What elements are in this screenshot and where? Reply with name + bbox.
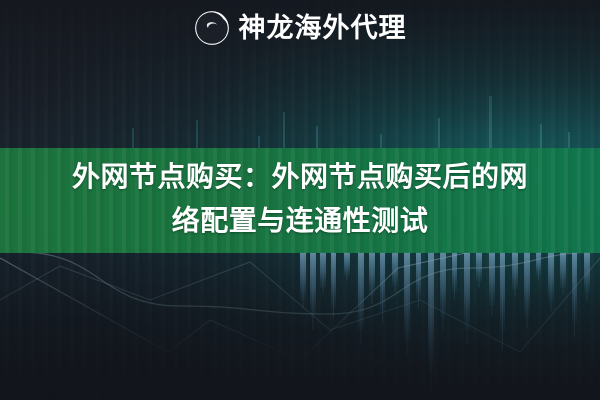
watermark-brand: 神龙海外代理 [239,10,407,46]
dragon-swirl-logo-icon [194,10,230,46]
promo-banner-image: 外网节点购买：外网节点购买后的网 络配置与连通性测试 神龙海外代理 [0,0,600,400]
watermark: 神龙海外代理 [0,10,600,46]
page-title: 外网节点购买：外网节点购买后的网 络配置与连通性测试 [0,155,600,243]
